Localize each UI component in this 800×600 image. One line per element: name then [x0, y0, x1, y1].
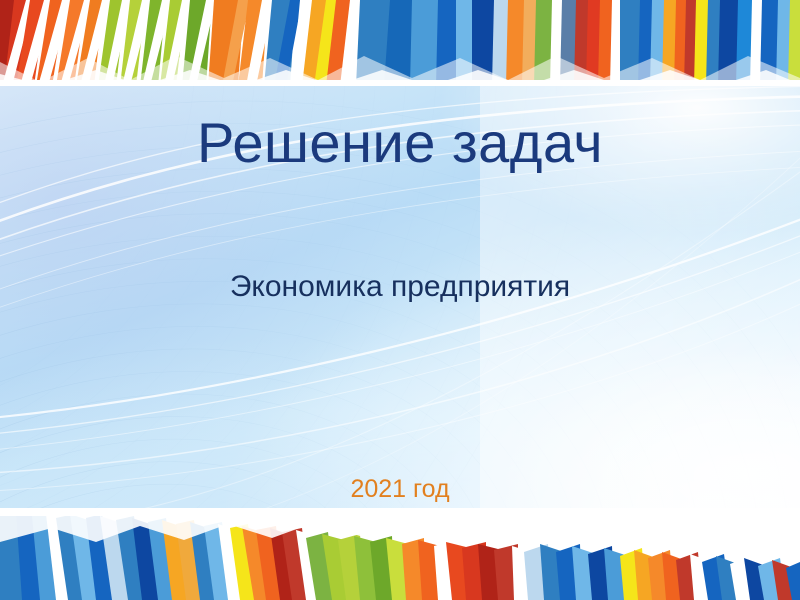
slide-year: 2021 год — [0, 474, 800, 504]
slide-title: Решение задач — [0, 112, 800, 174]
bottom-band-shards — [0, 508, 800, 600]
top-band-shards — [0, 0, 800, 86]
presentation-slide: Решение задач Экономика предприятия 2021… — [0, 0, 800, 600]
slide-subtitle: Экономика предприятия — [0, 269, 800, 305]
top-decoration-band — [0, 0, 800, 86]
bottom-decoration-band — [0, 508, 800, 600]
